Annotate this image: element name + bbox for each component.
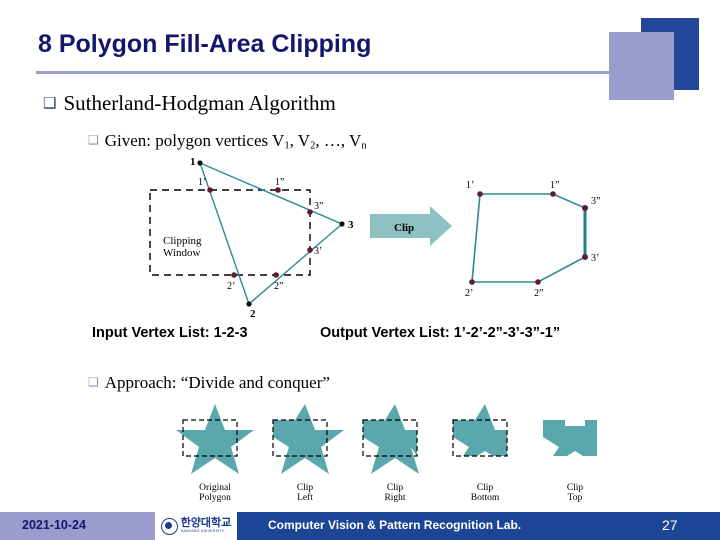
star-clip-right-shape: [363, 404, 419, 474]
clip-diagram-svg: Clipping Window 1 2 3 1’ 1” 2’ 2” 3’ 3: [130, 152, 650, 322]
star-clip-right-label-1: Clip: [387, 483, 404, 493]
result-dot-1p: [477, 191, 483, 197]
label-1pp: 1”: [275, 177, 284, 188]
slide-canvas: 8 Polygon Fill-Area Clipping ❑Sutherland…: [0, 0, 720, 540]
clipping-window-label-line2: Window: [163, 247, 200, 259]
divide-and-conquer-diagram: Original Polygon Clip Left Clip R: [175, 404, 625, 502]
vertex-dot-3: [339, 221, 344, 226]
vertex-dot-2pp: [273, 272, 279, 278]
label-2p: 2’: [227, 281, 235, 292]
given-mid-1: , V: [290, 131, 310, 150]
result-label-2pp: 2”: [534, 288, 543, 299]
star-clip-top-group: Clip Top: [543, 420, 597, 502]
result-label-2p: 2’: [465, 288, 473, 299]
star-original-label-1: Original: [199, 483, 231, 493]
label-2: 2: [250, 308, 256, 320]
result-dot-1pp: [550, 191, 556, 197]
result-dot-3p: [582, 254, 588, 260]
output-vertex-list: Output Vertex List: 1’-2’-2”-3’-3”-1”: [320, 325, 560, 341]
star-clip-sequence-svg: Original Polygon Clip Left Clip R: [175, 404, 625, 502]
star-clip-left-shape: [273, 404, 344, 474]
star-original-label-2: Polygon: [199, 493, 231, 502]
vertex-dot-1p: [207, 187, 213, 193]
footer-page-number: 27: [662, 517, 678, 533]
label-3: 3: [348, 219, 354, 231]
bullet-sutherland-hodgman-label: Sutherland-Hodgman Algorithm: [63, 91, 335, 115]
decoration-square-front: [609, 32, 674, 100]
clipping-window-rect: [150, 190, 310, 275]
result-dot-2p: [469, 279, 475, 285]
page-title: 8 Polygon Fill-Area Clipping: [38, 29, 598, 59]
vertex-dot-1: [197, 160, 202, 165]
bullet-square-icon: ❑: [43, 91, 56, 117]
bullet-approach-label: Approach: “Divide and conquer”: [105, 373, 330, 392]
result-label-1pp: 1”: [550, 180, 559, 191]
label-3pp: 3”: [314, 201, 323, 212]
given-prefix: Given: polygon vertices V: [105, 131, 285, 150]
given-sub-n: n: [361, 140, 366, 151]
star-clip-left-label-2: Left: [297, 492, 313, 502]
given-mid-2: , …, V: [315, 131, 361, 150]
bullet-square-small-icon-2: ❑: [88, 371, 99, 393]
star-original-shape: [176, 404, 254, 474]
logo-text-english: HANYANG UNIVERSITY: [181, 529, 232, 534]
clipping-window-label-line1: Clipping: [163, 235, 202, 247]
clipped-polygon: [472, 194, 585, 282]
footer-date: 2021-10-24: [22, 518, 86, 532]
bullet-approach: ❑Approach: “Divide and conquer”: [88, 372, 330, 395]
vertex-dot-1pp: [275, 187, 281, 193]
star-clip-left-label-1: Clip: [297, 483, 314, 493]
clip-arrow-label: Clip: [394, 222, 414, 234]
label-1p: 1’: [198, 177, 206, 188]
sutherland-hodgman-diagram: Clipping Window 1 2 3 1’ 1” 2’ 2” 3’ 3: [130, 152, 650, 322]
star-clip-bottom-label-2: Bottom: [471, 493, 500, 502]
result-dot-3pp: [582, 205, 588, 211]
bullet-square-small-icon: ❑: [88, 129, 99, 151]
star-clip-bottom-shape: [453, 404, 507, 456]
original-triangle: [200, 163, 342, 304]
logo-text-block: 한양대학교 HANYANG UNIVERSITY: [181, 518, 232, 534]
university-seal-icon: [161, 518, 178, 535]
title-divider: [36, 71, 642, 74]
star-clip-bottom-group: Clip Bottom: [453, 404, 507, 502]
star-original-group: Original Polygon: [176, 404, 254, 502]
star-clip-left-group: Clip Left: [266, 404, 344, 502]
star-clip-right-label-2: Right: [384, 493, 405, 502]
result-label-1p: 1’: [466, 180, 474, 191]
star-clip-top-label-1: Clip: [567, 483, 584, 493]
clip-arrow: Clip: [370, 206, 452, 246]
vertex-dot-2: [246, 301, 251, 306]
logo-text-korean: 한양대학교: [181, 518, 232, 529]
result-dot-2pp: [535, 279, 541, 285]
input-vertex-list: Input Vertex List: 1-2-3: [92, 325, 248, 341]
result-label-3p: 3’: [591, 253, 599, 264]
vertex-dot-2p: [231, 272, 237, 278]
star-clip-top-shape: [543, 420, 597, 456]
university-logo: 한양대학교 HANYANG UNIVERSITY: [155, 512, 237, 540]
vertex-dot-3p: [307, 247, 313, 253]
star-clip-bottom-label-1: Clip: [477, 483, 494, 493]
label-1: 1: [190, 156, 196, 168]
star-clip-top-label-2: Top: [568, 493, 583, 502]
vertex-dot-3pp: [307, 209, 313, 215]
star-clip-right-group: Clip Right: [363, 404, 419, 502]
label-3p: 3’: [314, 246, 322, 257]
logo-inner: 한양대학교 HANYANG UNIVERSITY: [161, 518, 232, 535]
result-label-3pp: 3”: [591, 196, 600, 207]
footer-lab-name: Computer Vision & Pattern Recognition La…: [268, 518, 521, 532]
bullet-sutherland-hodgman: ❑Sutherland-Hodgman Algorithm: [43, 90, 336, 119]
label-2pp: 2”: [274, 281, 283, 292]
